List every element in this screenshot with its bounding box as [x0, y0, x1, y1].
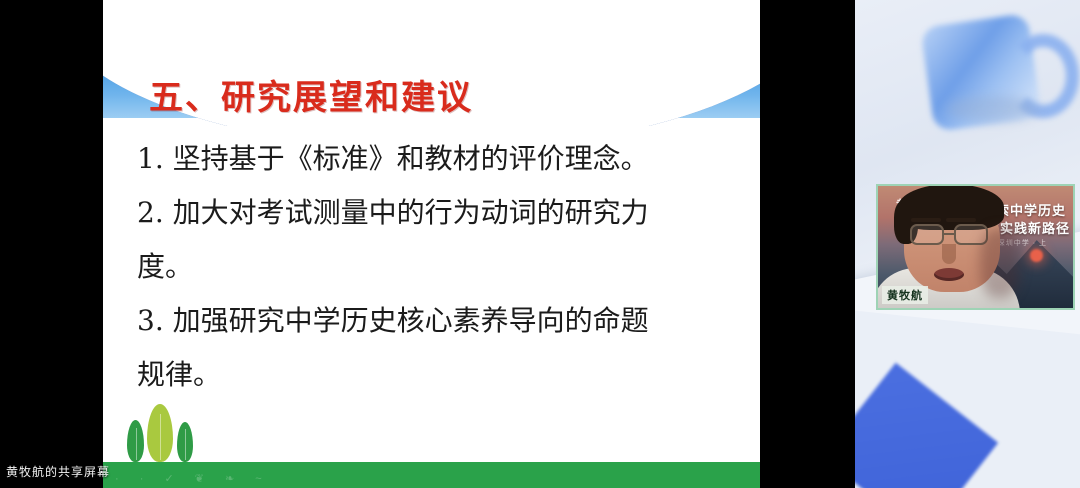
- slide-footer-bar: · · ✓ ❦ ❧ ~: [103, 462, 760, 488]
- person-mouth: [934, 268, 964, 281]
- leaf-icon: [177, 422, 193, 462]
- participant-video-tile[interactable]: 黄 探索中学历史 本化实践新路径 广东 · 深圳中学 · 上 黄牧航: [876, 184, 1075, 310]
- screen-share-view: 五、研究展望和建议 1. 坚持基于《标准》和教材的评价理念。 2. 加大对考试测…: [0, 0, 1080, 488]
- footer-icons: · · ✓ ❦ ❧ ~: [115, 472, 271, 485]
- participant-name-label: 黄牧航: [882, 286, 928, 304]
- person-shadow: [980, 228, 1020, 298]
- slide-title: 五、研究展望和建议: [149, 70, 473, 119]
- person-nose: [942, 244, 956, 264]
- shared-slide[interactable]: 五、研究展望和建议 1. 坚持基于《标准》和教材的评价理念。 2. 加大对考试测…: [103, 0, 760, 488]
- slide-body: 1. 坚持基于《标准》和教材的评价理念。 2. 加大对考试测量中的行为动词的研究…: [137, 132, 737, 402]
- slide-line: 2. 加大对考试测量中的行为动词的研究力: [137, 186, 737, 240]
- slide-line: 度。: [137, 240, 737, 294]
- blurred-shadow-shape: [947, 96, 1039, 122]
- slide-line: 3. 加强研究中学历史核心素养导向的命题: [137, 294, 737, 348]
- screen-share-watermark: 黄牧航的共享屏幕: [6, 463, 110, 480]
- person-eyebrow: [911, 218, 941, 222]
- leaf-icon: [147, 404, 173, 462]
- leaf-decoration: [123, 404, 213, 462]
- leaf-icon: [127, 420, 144, 462]
- slide-line: 1. 坚持基于《标准》和教材的评价理念。: [137, 132, 737, 186]
- slide-line: 规律。: [137, 348, 737, 402]
- person-eyebrow: [946, 218, 976, 222]
